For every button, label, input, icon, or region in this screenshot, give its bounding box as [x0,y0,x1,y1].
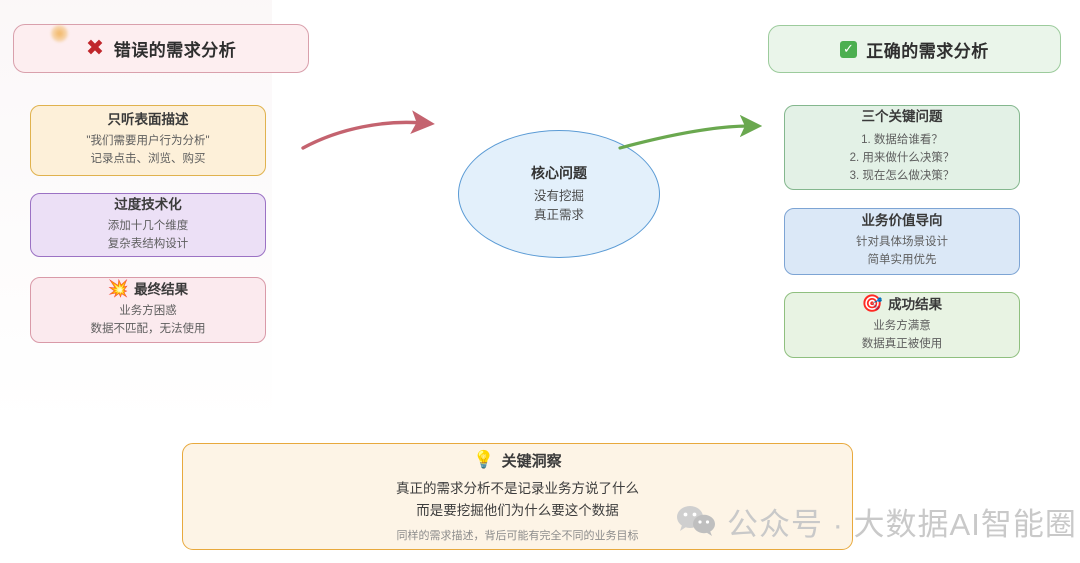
card-line: 简单实用优先 [868,252,937,270]
card-title: 过度技术化 [114,197,182,213]
card-line: 1. 数据给谁看？ [861,131,943,149]
card-line: 2. 用来做什么决策？ [850,149,955,167]
light-bulb-emoji-icon: 💡 [473,452,494,469]
card-title: 🎯 成功结果 [862,296,942,313]
core-problem-line: 真正需求 [534,206,584,225]
key-insight-main-line-1: 真正的需求分析不是记录业务方说了什么 [396,478,639,500]
card-line: 业务方满意 [873,318,931,336]
cross-mark-icon: ✖ [86,38,105,60]
key-insight-title-text: 关键洞察 [502,450,562,471]
core-to-good-arrow [620,126,750,148]
decorative-dot [51,25,68,42]
check-mark-button-icon: ✓ [840,41,857,58]
card-line: 3. 现在怎么做决策？ [850,167,955,185]
card-line: 针对具体场景设计 [856,234,948,252]
card-title-text: 过度技术化 [114,197,182,213]
card-three-key-questions: 三个关键问题 1. 数据给谁看？ 2. 用来做什么决策？ 3. 现在怎么做决策？ [784,105,1020,190]
card-business-value-oriented: 业务价值导向 针对具体场景设计 简单实用优先 [784,208,1020,275]
card-over-engineering: 过度技术化 添加十几个维度 复杂表结构设计 [30,193,266,257]
card-line: 数据真正被使用 [862,336,943,354]
card-title: 业务价值导向 [862,213,943,229]
header-bad-label: 错误的需求分析 [114,36,237,61]
card-title-text: 成功结果 [888,297,942,313]
card-line: "我们需要用户行为分析" [86,133,209,151]
card-title-text: 业务价值导向 [862,213,943,229]
card-title-text: 最终结果 [134,282,188,298]
card-title: 三个关键问题 [862,109,943,125]
key-insight-subtext: 同样的需求描述，背后可能有完全不同的业务目标 [397,527,639,543]
watermark: 公众号 · 大数据AI智能圈 [676,497,1077,545]
header-good-label: 正确的需求分析 [866,37,989,62]
header-good-text-wrap: ✓ 正确的需求分析 [840,37,989,62]
key-insight-main-line-2: 而是要挖掘他们为什么要这个数据 [416,500,619,522]
key-insight-title: 💡 关键洞察 [473,450,561,471]
core-problem-ellipse: 核心问题 没有挖掘 真正需求 [458,130,660,258]
header-good-requirement-analysis: ✓ 正确的需求分析 [768,25,1061,73]
bad-to-core-arrow [303,122,422,148]
card-success-result: 🎯 成功结果 业务方满意 数据真正被使用 [784,292,1020,358]
card-title-text: 只听表面描述 [108,112,189,128]
card-line: 数据不匹配，无法使用 [91,321,206,339]
card-line: 复杂表结构设计 [108,236,189,254]
diagram-canvas: ✖ 错误的需求分析 ✓ 正确的需求分析 只听表面描述 "我们需要用户行为分析" … [0,0,1080,563]
card-line: 业务方困惑 [119,303,177,321]
card-line: 添加十几个维度 [108,218,189,236]
header-bad-text-wrap: ✖ 错误的需求分析 [86,36,236,61]
card-title: 💥 最终结果 [108,281,188,298]
card-surface-description: 只听表面描述 "我们需要用户行为分析" 记录点击、浏览、购买 [30,105,266,176]
card-bad-final-result: 💥 最终结果 业务方困惑 数据不匹配，无法使用 [30,277,266,343]
core-problem-line: 没有挖掘 [534,187,584,206]
core-problem-title: 核心问题 [531,163,587,183]
collision-emoji-icon: 💥 [108,281,129,298]
wechat-logo-icon [676,504,716,538]
watermark-text: 公众号 · 大数据AI智能圈 [727,499,1077,544]
card-title: 只听表面描述 [108,112,189,128]
card-title-text: 三个关键问题 [862,109,943,125]
direct-hit-emoji-icon: 🎯 [862,296,883,313]
card-line: 记录点击、浏览、购买 [91,151,206,169]
